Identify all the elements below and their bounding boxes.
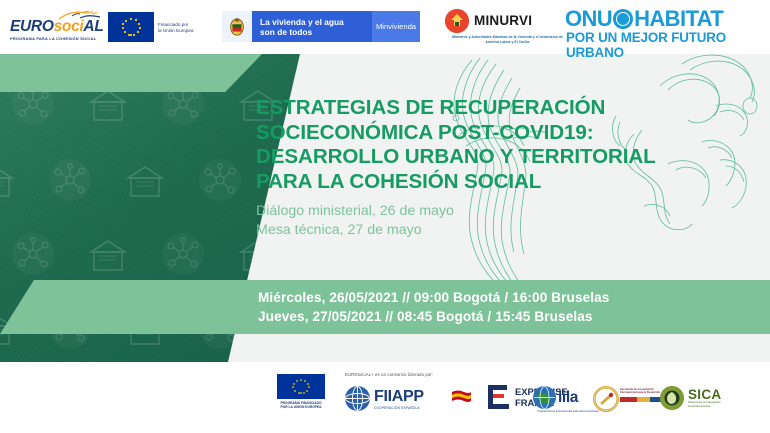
iila-globe-icon — [533, 386, 556, 409]
eu-flag-icon — [277, 374, 325, 399]
title-line-3: DESARROLLO URBANO Y TERRITORIAL — [256, 145, 676, 170]
sica-seal-icon — [660, 386, 684, 410]
subtitle-line-2: Mesa técnica, 27 de mayo — [256, 221, 676, 240]
eurosocial-logo: EUROsociAL PROGRAMA PARA LA COHESIÓN SOC… — [10, 10, 105, 44]
sica-logo: SICA Sistema de la Integración Centroame… — [660, 386, 740, 414]
expertise-france-mark-icon — [487, 384, 511, 410]
footer-logo-bar: PROGRAMA FINANCIADO POR LA UNIÓN EUROPEA… — [0, 362, 770, 433]
title-line-1: ESTRATEGIAS DE RECUPERACIÓN — [256, 96, 676, 121]
minurvi-tagline: Ministros y Autoridades Máximas de la Vi… — [445, 35, 570, 44]
onu-habitat-slogan: POR UN MEJOR FUTURO URBANO — [566, 30, 765, 60]
minvivienda-entity: Minvivienda — [372, 11, 420, 42]
subtitle-line-1: Diálogo ministerial, 26 de mayo — [256, 202, 676, 221]
date-block: Miércoles, 26/05/2021 // 09:00 Bogotá / … — [258, 288, 738, 326]
onu-habitat-logo: ONU HABITAT POR UN MEJOR FUTURO URBANO — [565, 6, 765, 48]
fiiapp-tagline: COOPERACIÓN ESPAÑOLA — [374, 406, 420, 410]
colombia-coat-of-arms-icon — [222, 11, 252, 42]
consortium-note: EUROsociAL+ es un consorcio liderado por… — [345, 372, 433, 377]
eurosocial-wordmark: EUROsociAL — [10, 19, 105, 34]
un-globe-emblem-icon — [613, 9, 633, 29]
eurosocial-euro: EURO — [10, 18, 54, 35]
seminar-ribbon — [0, 54, 262, 92]
footer-eu-caption: PROGRAMA FINANCIADO POR LA UNIÓN EUROPEA — [277, 401, 325, 410]
poster-body: SEMINARIO WEB — [0, 54, 770, 362]
minurvi-seal-icon — [445, 9, 469, 33]
spain-flag-icon — [452, 390, 471, 404]
eurosocial-tagline: PROGRAMA PARA LA COHESIÓN SOCIAL — [10, 36, 110, 41]
eurosocial-soci: soci — [54, 18, 84, 35]
eu-flag-icon — [108, 12, 154, 42]
minurvi-logo: MINURVI Ministros y Autoridades Máximas … — [445, 8, 575, 48]
header-logo-bar: EUROsociAL PROGRAMA PARA LA COHESIÓN SOC… — [0, 0, 770, 54]
onu-habitat-top-line: ONU HABITAT — [565, 6, 723, 32]
poster-subtitle: Diálogo ministerial, 26 de mayo Mesa téc… — [256, 202, 676, 239]
poster-title: ESTRATEGIAS DE RECUPERACIÓN SOCIECONÓMIC… — [256, 96, 676, 194]
minvivienda-slogan: La vivienda y el agua son de todos — [252, 11, 372, 42]
habitat-word: HABITAT — [634, 6, 723, 32]
minurvi-name: MINURVI — [474, 13, 532, 28]
title-line-2: SOCIECONÓMICA POST-COVID19: — [256, 121, 676, 146]
fiiapp-globe-icon — [345, 386, 370, 411]
eu-funding-caption: Financiado por la Unión Europea — [158, 22, 210, 34]
eurosocial-al: AL — [83, 18, 103, 35]
sica-tagline: Sistema de la Integración Centroamerican… — [688, 401, 721, 408]
minvivienda-logo: La vivienda y el agua son de todos Minvi… — [222, 11, 420, 42]
title-line-4: PARA LA COHESIÓN SOCIAL — [256, 170, 676, 195]
iila-name: iila — [558, 389, 578, 407]
date-line-1: Miércoles, 26/05/2021 // 09:00 Bogotá / … — [258, 288, 738, 307]
fiiapp-name: FIIAPP — [374, 388, 424, 406]
webinar-poster: EUROsociAL PROGRAMA PARA LA COHESIÓN SOC… — [0, 0, 770, 433]
aecid-seal-icon — [593, 386, 619, 412]
fiiapp-logo: FIIAPP COOPERACIÓN ESPAÑOLA — [345, 384, 445, 418]
onu-word: ONU — [565, 6, 612, 32]
footer-eu-logo: PROGRAMA FINANCIADO POR LA UNIÓN EUROPEA — [277, 374, 325, 410]
date-line-2: Jueves, 27/05/2021 // 08:45 Bogotá / 15:… — [258, 307, 738, 326]
title-block: ESTRATEGIAS DE RECUPERACIÓN SOCIECONÓMIC… — [256, 96, 676, 239]
